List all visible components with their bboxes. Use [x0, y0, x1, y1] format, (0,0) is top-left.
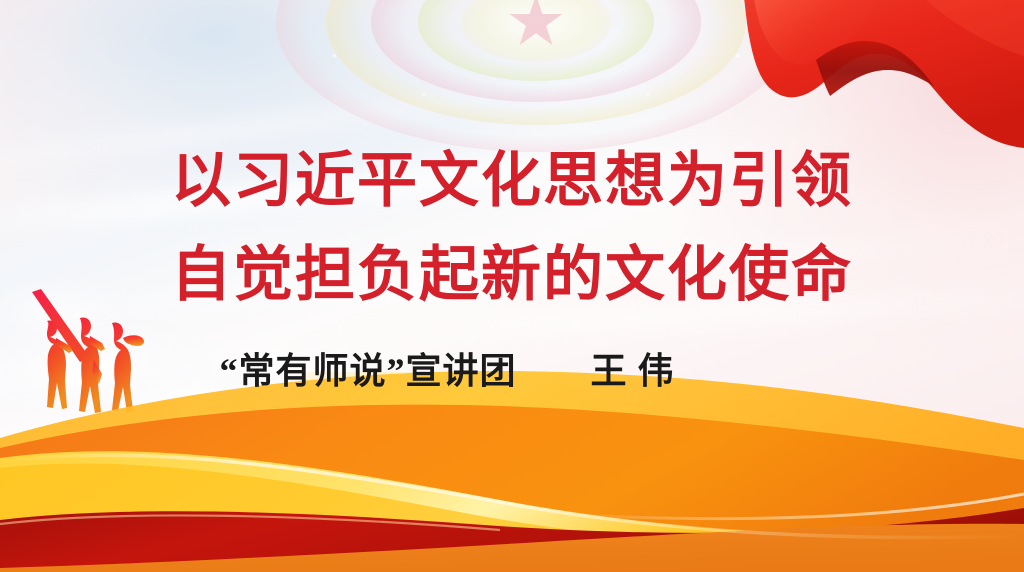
title-line-1: 以习近平文化思想为引领	[0, 134, 1024, 228]
subtitle-presenter: “常有师说”宣讲团 王 伟	[0, 348, 1024, 394]
title-block: 以习近平文化思想为引领 自觉担负起新的文化使命	[0, 134, 1024, 322]
presentation-cover-slide: 以习近平文化思想为引领 自觉担负起新的文化使命 “常有师说”宣讲团 王 伟	[0, 0, 1024, 572]
title-line-2: 自觉担负起新的文化使命	[0, 228, 1024, 322]
